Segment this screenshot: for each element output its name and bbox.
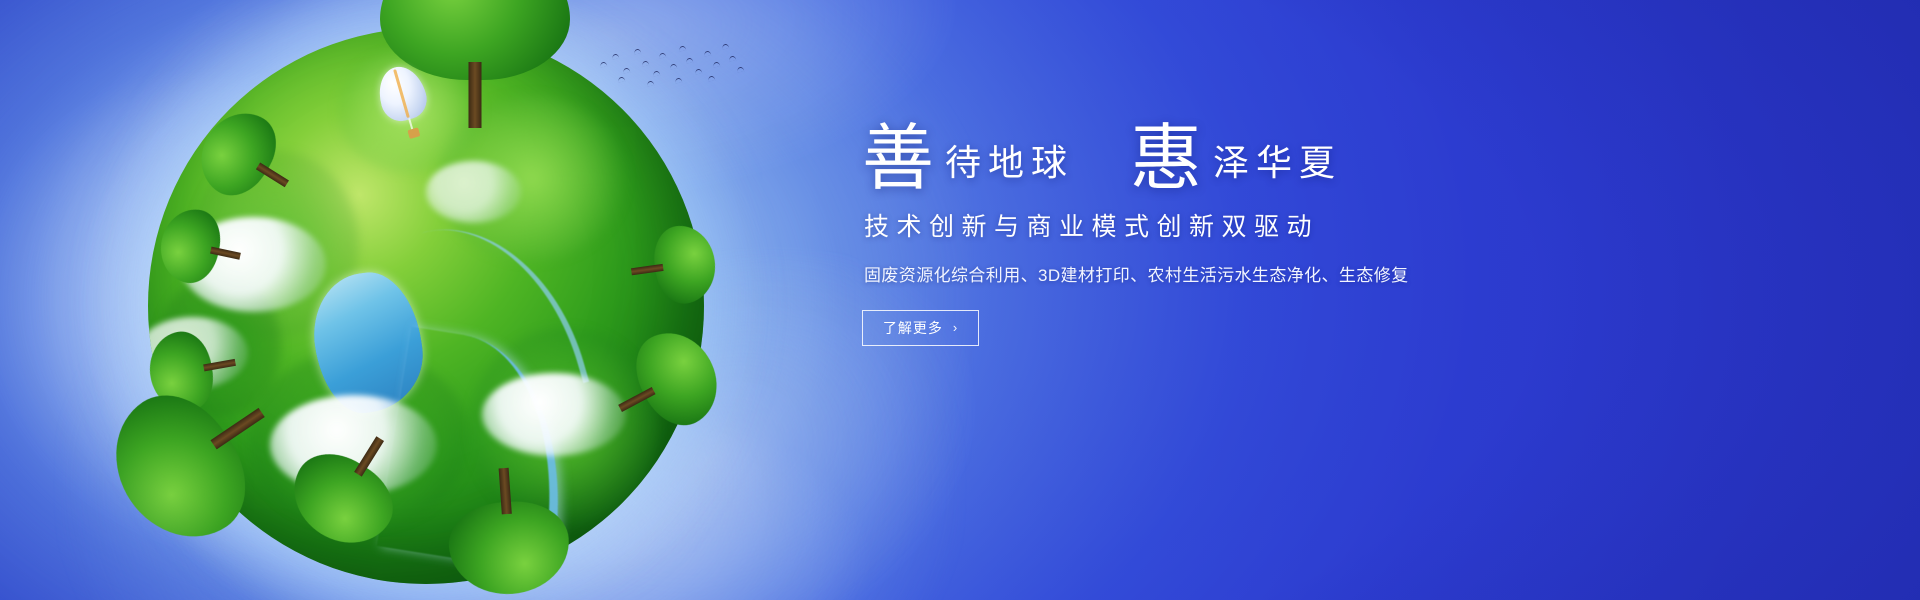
headline-rest-1: 待地球 [935,145,1074,193]
chevron-right-icon: › [953,321,958,334]
hero-text-block: 善 待地球 惠 泽华夏 技术创新与商业模式创新双驱动 固废资源化综合利用、3D建… [862,122,1562,346]
hero-description: 固废资源化综合利用、3D建材打印、农村生活污水生态净化、生态修复 [864,261,1562,286]
headline-char-2: 惠 [1130,124,1203,195]
headline: 善 待地球 惠 泽华夏 [862,122,1562,193]
headline-char-1: 善 [862,124,935,195]
learn-more-label: 了解更多 [883,318,943,338]
hero-subtitle: 技术创新与商业模式创新双驱动 [864,207,1562,243]
hero-banner: 善 待地球 惠 泽华夏 技术创新与商业模式创新双驱动 固废资源化综合利用、3D建… [0,0,1920,600]
learn-more-button[interactable]: 了解更多 › [862,310,979,346]
headline-rest-2: 泽华夏 [1203,145,1342,193]
